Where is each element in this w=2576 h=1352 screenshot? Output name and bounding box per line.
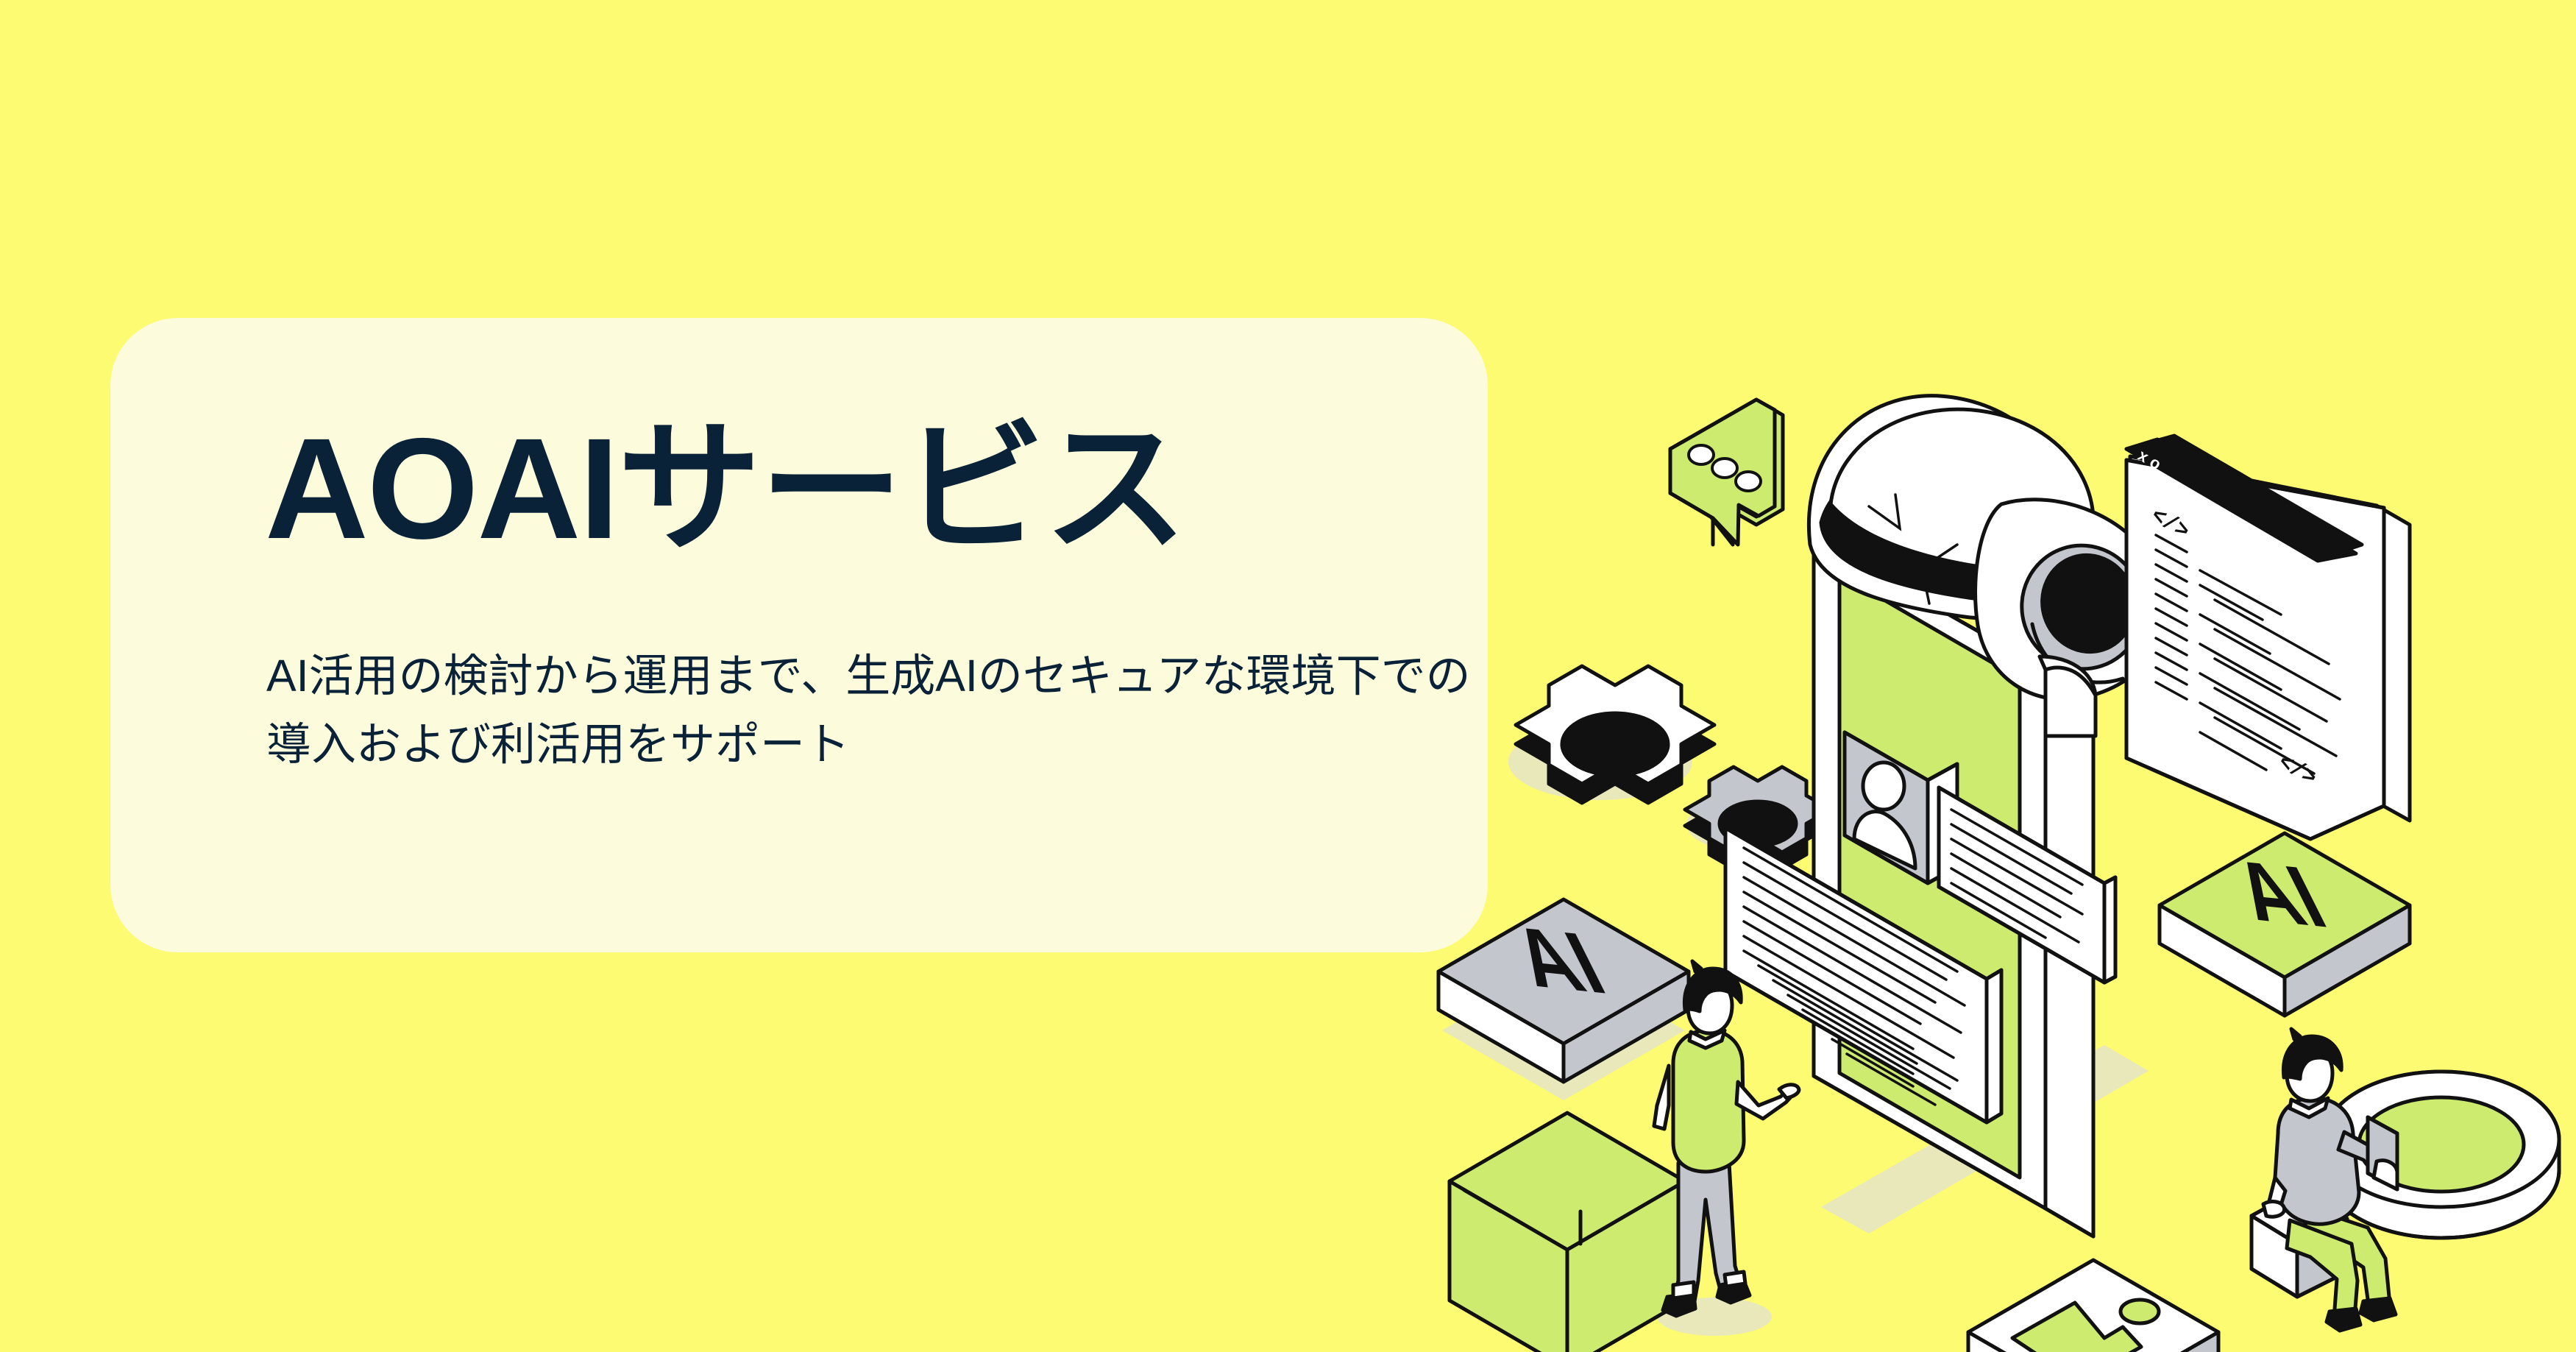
code-window: x o _: [2126, 436, 2410, 839]
green-cube: [1450, 1113, 1685, 1352]
image-tile: [1968, 1260, 2218, 1352]
speech-bubble-icon: [1670, 400, 1783, 545]
page-title: AOAIサービス: [265, 414, 1186, 564]
ai-block-gray: AI: [1438, 899, 1689, 1082]
aoai-service-banner: AOAIサービス AI活用の検討から運用まで、生成AIのセキュアな環境下での導入…: [0, 0, 2576, 1352]
illustration-isometric-ai-scene: .ln { fill:none; stroke:#111; stroke-wid…: [1398, 324, 2576, 1352]
text-card: AOAIサービス AI活用の検討から運用まで、生成AIのセキュアな環境下での導入…: [110, 318, 1488, 952]
page-subtitle: AI活用の検討から運用まで、生成AIのセキュアな環境下での導入および利活用をサポ…: [266, 642, 1473, 778]
ai-block-green: AI: [2160, 833, 2410, 1016]
person-seated: [2252, 1029, 2397, 1331]
